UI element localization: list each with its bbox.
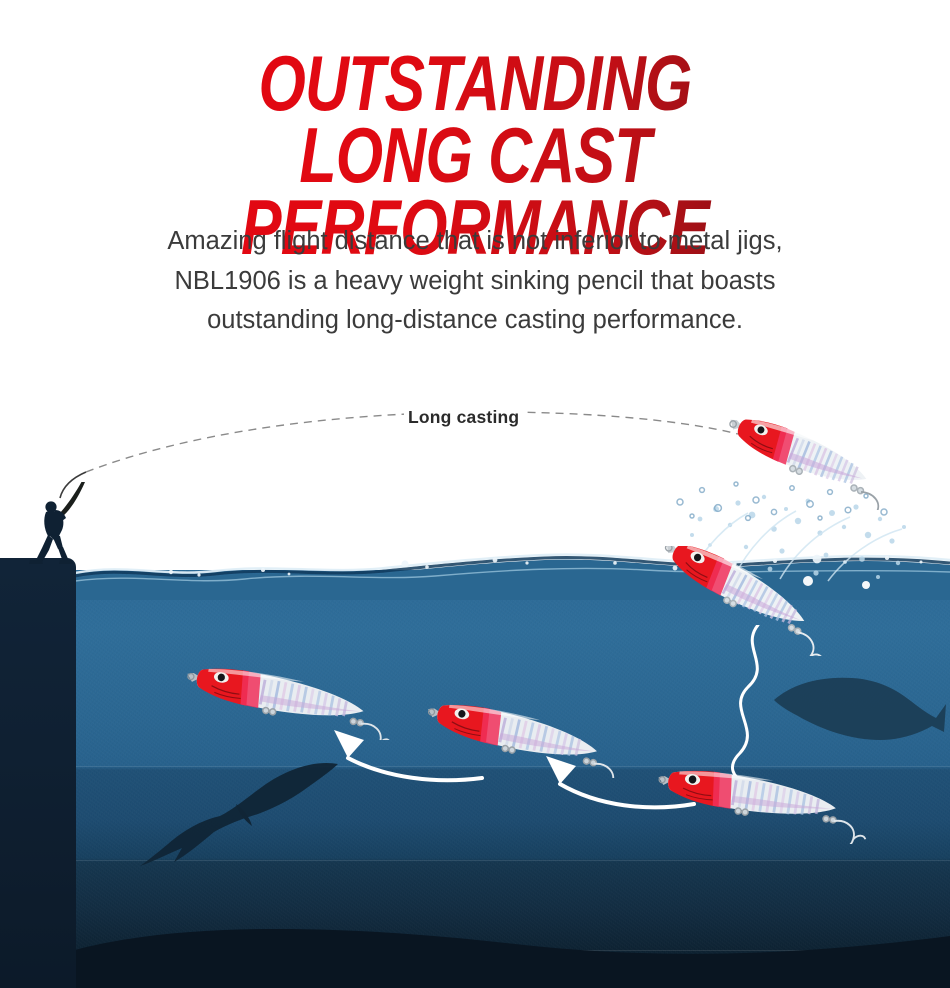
lure-airborne bbox=[704, 414, 902, 510]
lure-retrieve-mid bbox=[414, 698, 630, 778]
subtitle-line-2: NBL1906 is a heavy weight sinking pencil… bbox=[60, 262, 890, 302]
seafloor-silhouette bbox=[75, 910, 950, 988]
lure-water-entry bbox=[634, 546, 844, 656]
lure-sinking-right bbox=[644, 758, 872, 844]
subtitle: Amazing flight distance that is not infe… bbox=[60, 222, 890, 341]
fish-silhouette-right bbox=[768, 668, 948, 750]
subtitle-line-1: Amazing flight distance that is not infe… bbox=[60, 222, 890, 262]
lure-retrieve-left bbox=[174, 662, 396, 740]
headline-line-1: OUTSTANDING bbox=[105, 48, 846, 120]
long-casting-label: Long casting bbox=[404, 406, 523, 429]
illustration-scene: Long casting bbox=[0, 370, 950, 988]
subtitle-line-3: outstanding long-distance casting perfor… bbox=[60, 301, 890, 341]
